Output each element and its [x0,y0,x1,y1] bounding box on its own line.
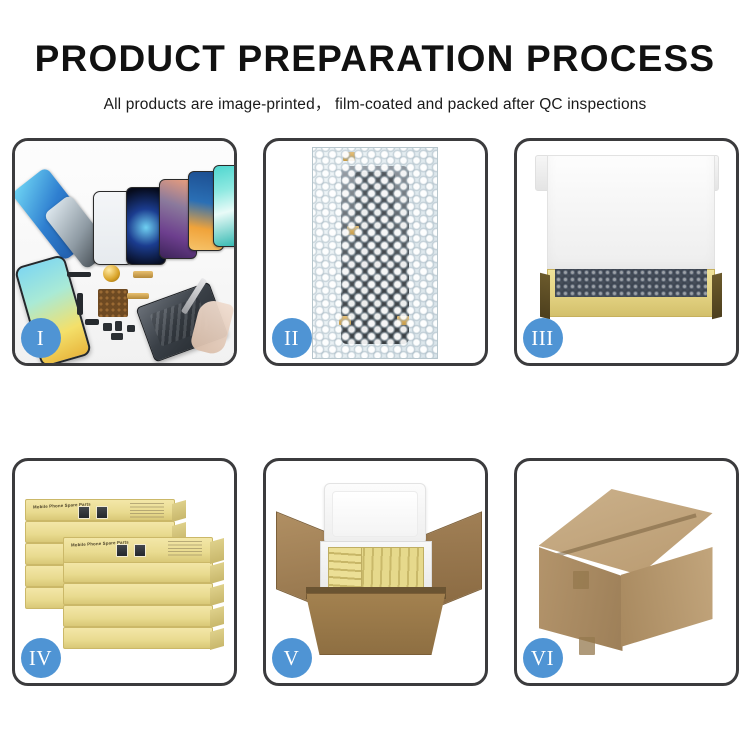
process-panel-grid: I II III [0,138,750,698]
panel-badge-5: V [272,638,312,678]
flex-cable-icon [85,319,99,325]
panel-1-scene: I [15,141,234,363]
chip-icon [103,323,112,331]
white-box-lid [547,155,715,273]
panel-2-scene: II [266,141,485,363]
styrofoam-lid [324,483,426,545]
panel-badge-2: II [272,318,312,358]
chip-icon [115,321,122,331]
panel-6-scene: VI [517,461,736,683]
panel-badge-1: I [21,318,61,358]
tape-patch-icon [573,571,589,589]
box-stack-item-printed: Mobile Phone Spare Parts [25,499,175,521]
bubble-wrap-bag [312,147,438,359]
chip-icon [127,325,135,332]
page-header: PRODUCT PREPARATION PROCESS All products… [0,0,750,114]
box-stack-item [63,583,213,605]
screw-grid-icon [98,289,128,317]
process-panel-2: II [263,138,488,366]
process-panel-1: I [12,138,237,366]
panel-badge-6: VI [523,638,563,678]
box-stack-item [63,561,213,583]
gold-coil-icon [103,265,120,282]
page-title: PRODUCT PREPARATION PROCESS [0,40,750,79]
box-stack-item [63,627,213,649]
flex-cable-icon [67,272,91,277]
chip-icon [111,333,123,340]
flex-cable-icon [77,293,83,315]
phone-screen-teal-icon [213,165,234,247]
panel-4-scene: Mobile Phone Spare Parts Mobile Phone Sp… [15,461,234,683]
process-panel-5: V [263,458,488,686]
panel-badge-4: IV [21,638,61,678]
process-panel-3: III [514,138,739,366]
process-panel-6: VI [514,458,739,686]
box-stack-item [63,605,213,627]
carton-front-face [306,593,446,655]
panel-3-scene: III [517,141,736,363]
box-stack-item-printed: Mobile Phone Spare Parts [63,537,213,563]
panel-badge-3: III [523,318,563,358]
tape-patch-icon [579,637,595,655]
gold-connector-icon [127,293,149,299]
process-panel-4: Mobile Phone Spare Parts Mobile Phone Sp… [12,458,237,686]
bubble-texture [313,148,437,358]
page-subtitle: All products are image-printed， film-coa… [0,92,750,114]
bubble-wrapped-contents [555,269,707,297]
gold-connector-icon [133,271,153,278]
panel-5-scene: V [266,461,485,683]
